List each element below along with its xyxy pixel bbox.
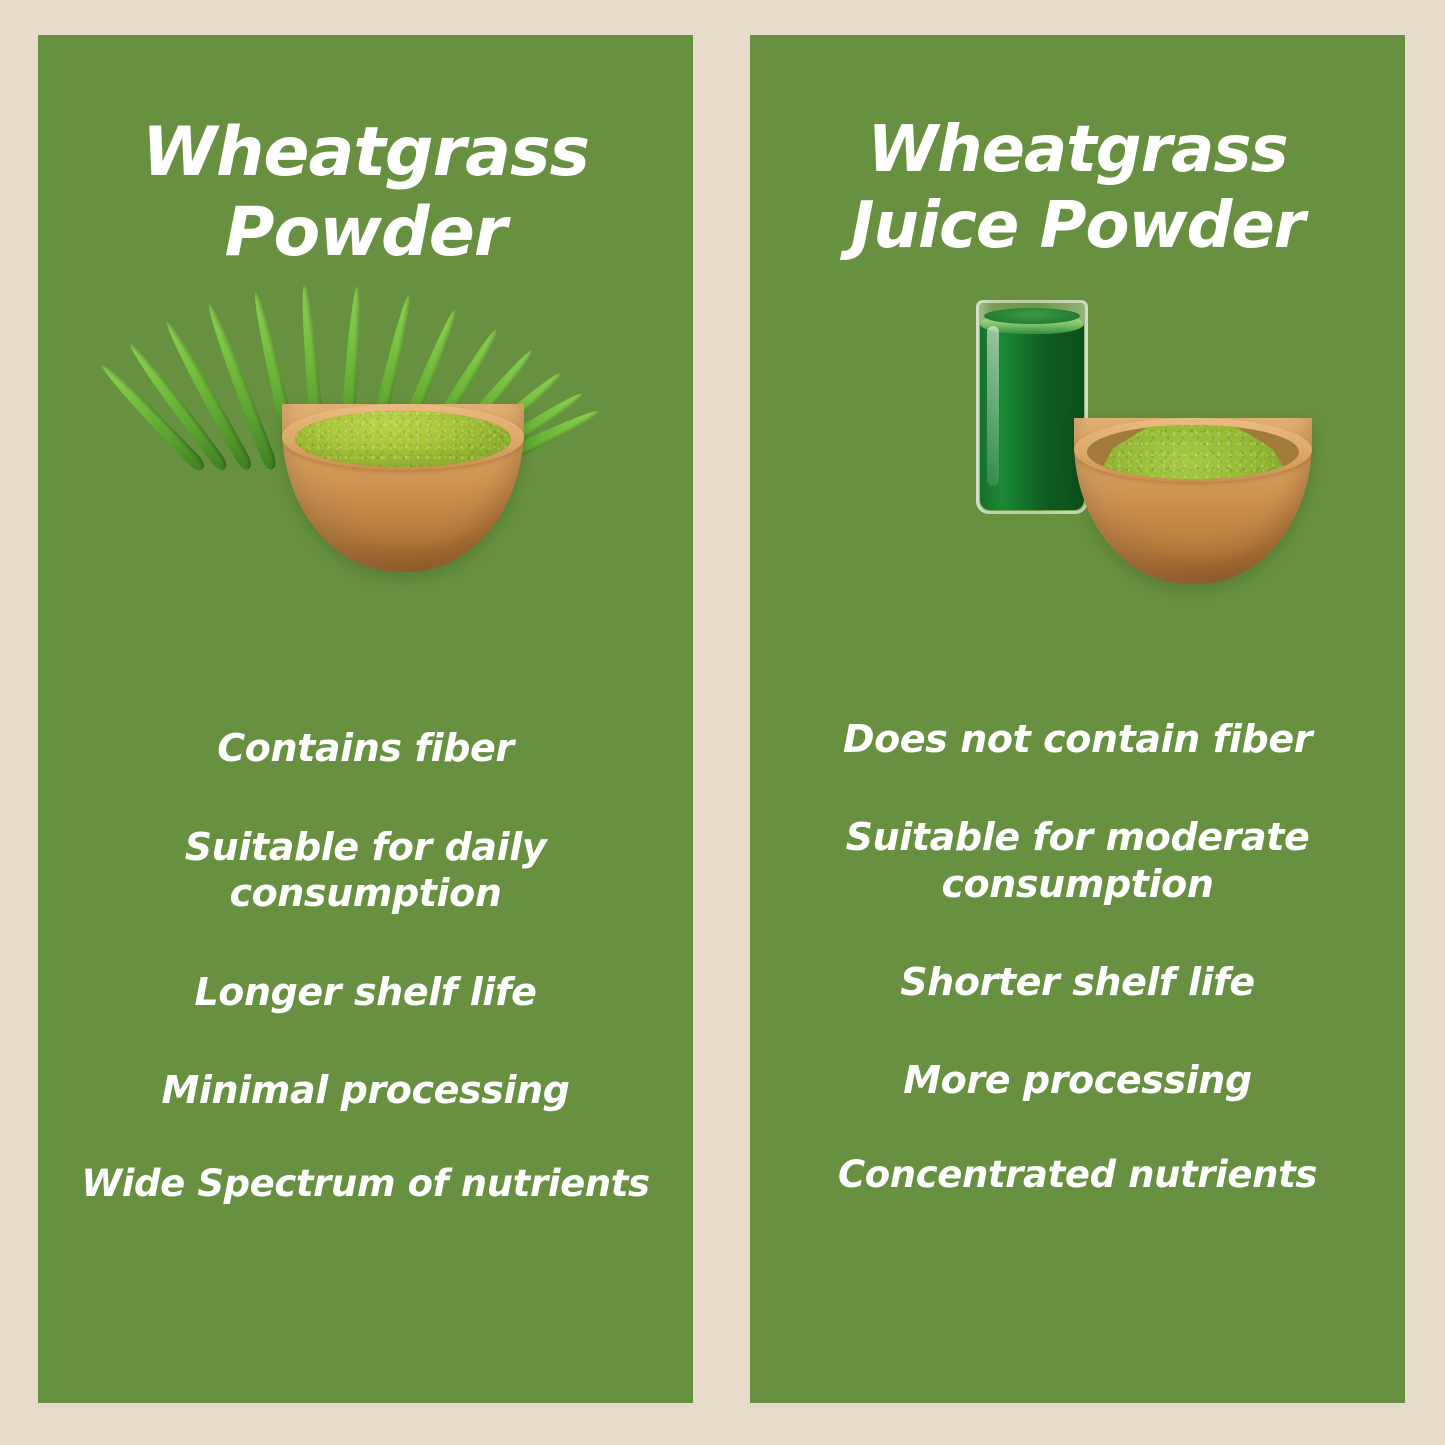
bowl-interior — [295, 411, 510, 467]
green-powder-icon — [295, 411, 510, 467]
benefit-item: Contains fiber — [54, 725, 677, 771]
benefit-item: Longer shelf life — [54, 969, 677, 1015]
glass-highlight — [987, 326, 999, 486]
benefit-list-wheatgrass-juice-powder: Does not contain fiber Suitable for mode… — [750, 620, 1405, 1403]
panel-wheatgrass-juice-powder: Wheatgrass Juice Powder Does not contain… — [750, 35, 1405, 1403]
wooden-bowl-icon — [282, 404, 524, 572]
benefit-item: Wide Spectrum of nutrients — [54, 1161, 677, 1206]
benefit-item: Does not contain fiber — [766, 716, 1389, 762]
benefit-item: Concentrated nutrients — [766, 1152, 1389, 1197]
green-powder-mound-icon — [1096, 425, 1291, 480]
benefit-item: More processing — [766, 1057, 1389, 1103]
benefit-item: Suitable for moderate consumption — [766, 814, 1389, 907]
juice-glass-icon — [976, 300, 1088, 514]
bowl-interior — [1087, 425, 1299, 480]
wooden-bowl-icon — [1074, 418, 1312, 584]
benefit-item: Minimal processing — [54, 1067, 677, 1113]
powder-grain-texture — [1096, 425, 1291, 480]
panel-title-wheatgrass-powder: Wheatgrass Powder — [38, 113, 693, 273]
panel-wheatgrass-powder: Wheatgrass Powder — [38, 35, 693, 1403]
powder-grain-texture — [295, 411, 510, 467]
benefit-item: Suitable for daily consumption — [54, 824, 677, 917]
panel-title-wheatgrass-juice-powder: Wheatgrass Juice Powder — [750, 113, 1405, 264]
juice-surface — [984, 308, 1080, 324]
wheatgrass-juice-powder-image — [750, 290, 1405, 620]
comparison-board: Wheatgrass Powder — [0, 0, 1445, 1445]
wheatgrass-powder-bowl-image — [38, 299, 693, 629]
benefit-item: Shorter shelf life — [766, 959, 1389, 1005]
benefit-list-wheatgrass-powder: Contains fiber Suitable for daily consum… — [38, 629, 693, 1403]
